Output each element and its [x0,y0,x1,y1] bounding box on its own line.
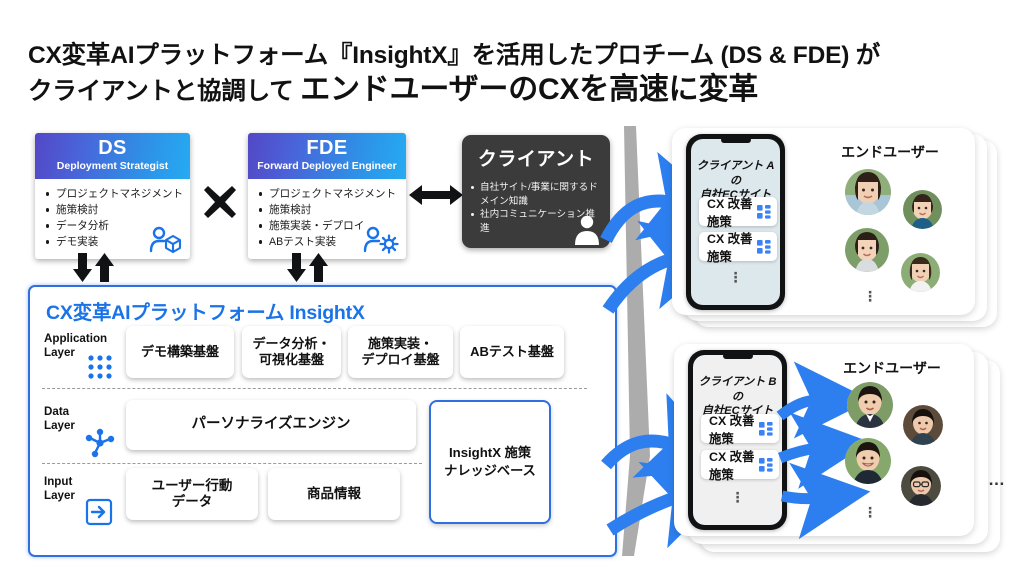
avatar [845,169,891,215]
qr-grid-icon [759,422,773,436]
role-card-ds-header: DS Deployment Strategist [35,133,190,179]
inner-flow-arrows-b [778,400,848,530]
qr-grid-icon [757,205,771,219]
list-item: 施策検討 [45,202,182,218]
phone-notch [721,137,751,143]
page-title: CX変革AIプラットフォーム『InsightX』を活用したプロチーム (DS &… [28,40,1008,110]
role-card-fde-header: FDE Forward Deployed Engineer [248,133,406,179]
title-line-2-small: クライアントと協調して [28,78,300,105]
title-line-2-emphasis: エンドユーザーのCXを高速に変革 [300,73,758,106]
more-panels-indicator: … [988,470,1007,490]
cx-measure-row[interactable]: CX 改善施策 [701,414,779,443]
phone-notch [723,353,753,359]
role-full-name: Forward Deployed Engineer [252,160,402,173]
x-cross-icon [200,182,240,222]
end-users-title: エンドユーザー [820,142,960,162]
end-users-more-indicator: ⋮ [850,510,890,516]
knowledge-base-box[interactable]: InsightX 施策 ナレッジベース [429,400,551,524]
list-item: プロジェクトマネジメント [45,186,182,202]
avatar [901,466,941,506]
role-card-ds-body: プロジェクトマネジメント 施策検討 データ分析 デモ実装 [35,179,190,258]
module-box[interactable]: ユーザー行動 データ [126,468,258,520]
layer-label-data: Data Layer [44,405,75,432]
phone-screen-b: クライアント B の 自社ECサイト CX 改善施策 [693,355,782,525]
phone-mockup-b[interactable]: クライアント B の 自社ECサイト CX 改善施策 [688,350,787,530]
module-box[interactable]: ABテスト基盤 [460,326,564,378]
avatar [903,190,942,229]
module-box[interactable]: データ分析・ 可視化基盤 [242,326,341,378]
cx-measure-label: CX 改善施策 [709,411,759,447]
layer-label-line2: Layer [44,489,75,502]
list-item: 施策検討 [258,202,398,218]
module-box[interactable]: パーソナライズエンジン [126,400,416,450]
qr-grid-icon [757,240,771,254]
layer-label-line1: Input [44,475,72,488]
phone-mockup-a[interactable]: クライアント A の 自社ECサイト CX 改善施策 [686,134,785,310]
avatar [901,253,940,292]
avatar [903,405,943,445]
person-gear-icon [363,226,399,254]
layer-label-line2: Layer [44,346,75,359]
layer-label-line1: Application [44,332,107,345]
end-users-title: エンドユーザー [822,358,962,378]
list-item: 自社サイト/事業に関するドメイン知識 [470,181,602,208]
cx-measure-row[interactable]: CX 改善施策 [701,450,779,479]
role-abbr: FDE [252,138,402,159]
cx-measure-row[interactable]: CX 改善施策 [699,197,777,226]
qr-grid-icon [759,458,773,472]
avatar [845,438,891,484]
role-full-name: Deployment Strategist [39,160,186,173]
more-indicator: ⋮ [691,275,780,281]
title-line-2: クライアントと協調して エンドユーザーのCXを高速に変革 [28,71,1008,109]
phone-screen-a: クライアント A の 自社ECサイト CX 改善施策 [691,139,780,305]
cx-measure-row[interactable]: CX 改善施策 [699,232,777,261]
double-headed-arrow-icon [409,182,463,208]
title-line-1: CX変革AIプラットフォーム『InsightX』を活用したプロチーム (DS &… [28,40,1008,71]
layer-divider [42,463,422,464]
list-item: プロジェクトマネジメント [258,186,398,202]
role-abbr: DS [39,138,186,159]
bidirectional-vertical-arrows-fde [287,253,333,283]
module-box[interactable]: デモ構築基盤 [126,326,234,378]
grid-dots-icon [86,353,116,383]
bidirectional-vertical-arrows-ds [73,253,119,283]
cx-measure-label: CX 改善施策 [709,447,759,483]
layer-label-line2: Layer [44,419,75,432]
end-users-more-indicator: ⋮ [850,294,890,300]
role-card-ds[interactable]: DS Deployment Strategist プロジェクトマネジメント 施策… [35,133,190,259]
more-indicator: ⋮ [693,495,782,501]
network-nodes-icon [84,427,116,459]
avatar [847,382,893,428]
cx-measure-label: CX 改善施策 [707,229,757,265]
client-card[interactable]: クライアント 自社サイト/事業に関するドメイン知識 社内コミュニケーション推進 [462,135,610,248]
module-box[interactable]: 施策実装・ デプロイ基盤 [348,326,453,378]
layer-label-line1: Data [44,405,69,418]
role-card-fde[interactable]: FDE Forward Deployed Engineer プロジェクトマネジメ… [248,133,406,259]
module-box[interactable]: 商品情報 [268,468,400,520]
role-card-fde-body: プロジェクトマネジメント 施策検討 施策実装・デプロイ ABテスト実装 [248,179,406,258]
platform-panel[interactable]: CX変革AIプラットフォーム InsightX Application Laye… [28,285,617,557]
layer-divider [42,388,587,389]
avatar [845,228,889,272]
arrow-into-box-icon [85,498,113,526]
platform-title: CX変革AIプラットフォーム InsightX [46,296,365,325]
layer-label-input: Input Layer [44,475,75,502]
client-title: クライアント [462,144,610,171]
slide-canvas: CX変革AIプラットフォーム『InsightX』を活用したプロチーム (DS &… [0,0,1024,574]
person-box-icon [149,226,183,254]
cx-measure-label: CX 改善施策 [707,194,757,230]
